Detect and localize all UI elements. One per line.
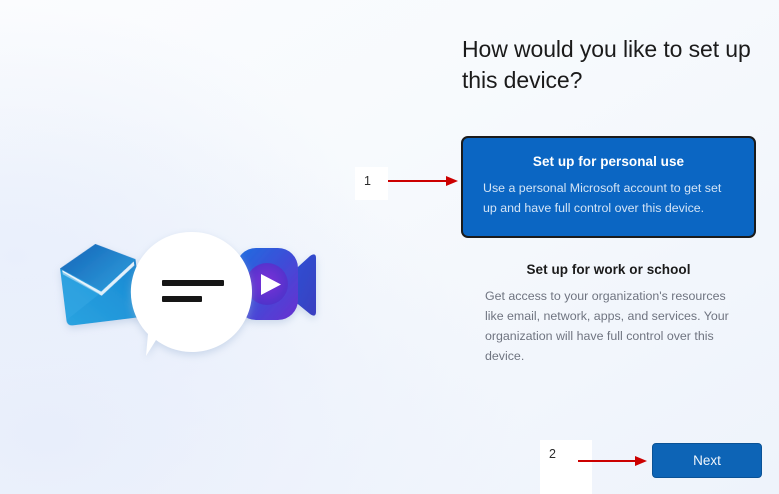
oobe-screen: How would you like to set up this device… (0, 0, 779, 494)
option-title-personal-use: Set up for personal use (483, 154, 734, 169)
annotation-label-2: 2 (540, 440, 592, 494)
option-description-work-or-school: Get access to your organization's resour… (485, 286, 732, 366)
annotation-label-1: 1 (355, 167, 388, 200)
annotation-arrow-2 (578, 455, 650, 467)
option-title-work-or-school: Set up for work or school (485, 262, 732, 277)
annotation-arrow-1-head (446, 176, 458, 186)
annotation-arrow-1-line (388, 180, 449, 182)
content-column: How would you like to set up this device… (462, 34, 762, 95)
setup-options-list: Set up for personal use Use a personal M… (461, 136, 758, 393)
option-card-personal-use[interactable]: Set up for personal use Use a personal M… (461, 136, 756, 238)
option-description-personal-use: Use a personal Microsoft account to get … (483, 178, 734, 218)
next-button[interactable]: Next (652, 443, 762, 478)
annotation-arrow-2-line (578, 460, 638, 462)
page-title: How would you like to set up this device… (462, 34, 752, 95)
apps-illustration (52, 228, 342, 368)
option-card-work-or-school[interactable]: Set up for work or school Get access to … (461, 242, 756, 388)
mail-envelope-icon (58, 239, 143, 326)
annotation-arrow-1 (388, 175, 461, 187)
chat-bubble-icon (131, 232, 252, 356)
annotation-arrow-2-head (635, 456, 647, 466)
